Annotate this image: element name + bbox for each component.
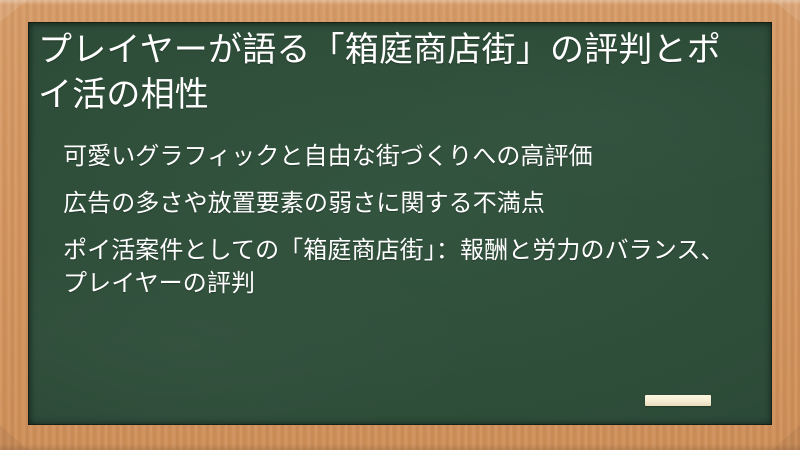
list-item: 可愛いグラフィックと自由な街づくりへの高評価 (63, 140, 748, 174)
frame-corner-bottom-left (0, 425, 28, 450)
frame-corner-bottom-right (772, 425, 800, 450)
chalkboard-content: プレイヤーが語る「箱庭商店街」の評判とポイ活の相性 可愛いグラフィックと自由な街… (28, 22, 772, 301)
list-item: 広告の多さや放置要素の弱さに関する不満点 (63, 187, 748, 221)
chalkboard-surface: プレイヤーが語る「箱庭商店街」の評判とポイ活の相性 可愛いグラフィックと自由な街… (28, 22, 772, 425)
list-item: ポイ活案件としての「箱庭商店街」：報酬と労力のバランス、プレイヤーの評判 (63, 234, 748, 301)
slide-title: プレイヤーが語る「箱庭商店街」の評判とポイ活の相性 (33, 28, 748, 118)
slide-bullet-list: 可愛いグラフィックと自由な街づくりへの高評価 広告の多さや放置要素の弱さに関する… (33, 140, 748, 300)
frame-corner-top-right (772, 0, 800, 22)
frame-corner-top-left (0, 0, 28, 22)
chalkboard-wooden-frame: プレイヤーが語る「箱庭商店街」の評判とポイ活の相性 可愛いグラフィックと自由な街… (0, 0, 800, 450)
chalk-stick-icon (645, 395, 711, 406)
frame-top-highlight (0, 0, 800, 5)
frame-bottom-shadow (0, 444, 800, 450)
